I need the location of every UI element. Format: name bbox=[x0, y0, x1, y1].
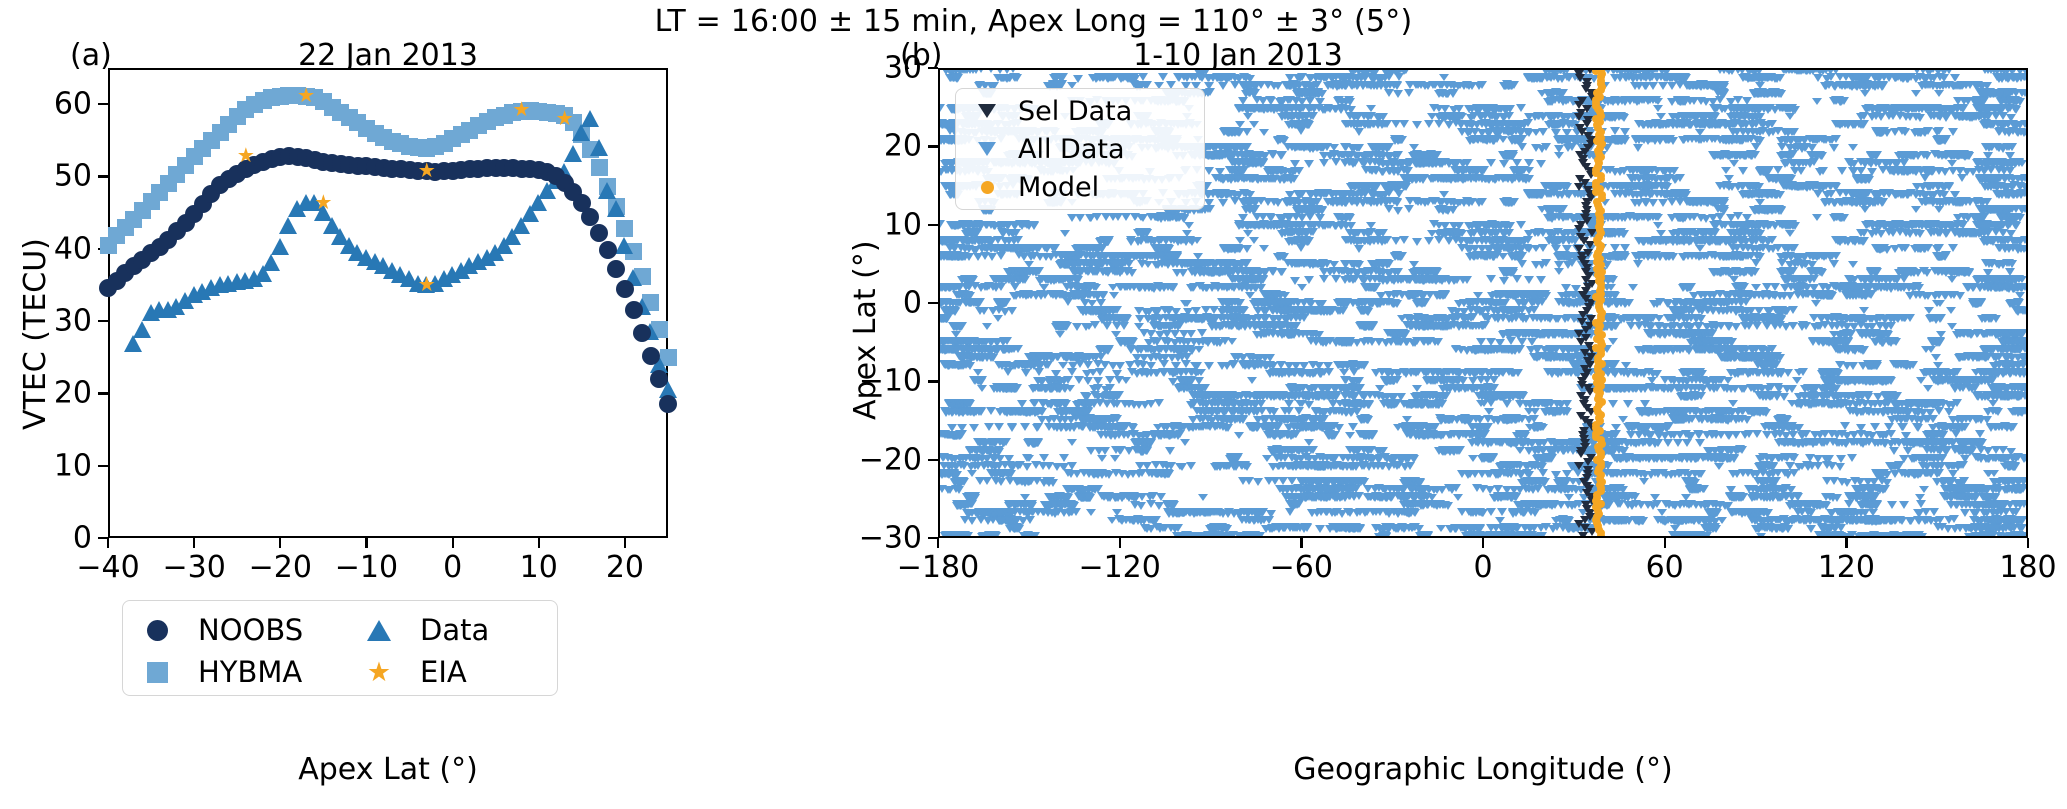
all-data-point bbox=[1131, 494, 1141, 502]
all-data-point bbox=[1086, 509, 1096, 516]
all-data-point bbox=[1039, 454, 1049, 462]
all-data-point bbox=[1947, 439, 1957, 446]
y-tick-label: −10 bbox=[859, 364, 922, 399]
all-data-point bbox=[1551, 517, 1561, 524]
all-data-point bbox=[1793, 493, 1803, 501]
all-data-point bbox=[1518, 440, 1528, 448]
all-data-point bbox=[1618, 486, 1628, 494]
all-data-point bbox=[1663, 517, 1673, 524]
all-data-point bbox=[1231, 454, 1241, 462]
all-data-point bbox=[1058, 463, 1068, 470]
all-data-point bbox=[1495, 517, 1505, 524]
all-data-point bbox=[1830, 525, 1840, 533]
all-data-point bbox=[1329, 431, 1339, 439]
all-data-point bbox=[1611, 430, 1621, 438]
all-data-point bbox=[1266, 510, 1276, 518]
all-data-point bbox=[2019, 477, 2026, 485]
all-data-point bbox=[1919, 486, 1929, 493]
y-tick bbox=[928, 302, 938, 304]
x-tick bbox=[365, 538, 367, 548]
all-data-point bbox=[1797, 463, 1807, 470]
all-data-point bbox=[2009, 463, 2019, 471]
all-data-point bbox=[1151, 516, 1161, 524]
data-point-triangle bbox=[607, 200, 625, 217]
all-data-point bbox=[1313, 463, 1323, 471]
data-point-star: ★ bbox=[295, 85, 317, 105]
all-data-point bbox=[1315, 525, 1325, 533]
all-data-point bbox=[1093, 485, 1103, 493]
all-data-point bbox=[1977, 439, 1987, 447]
all-data-point bbox=[1960, 455, 1970, 463]
all-data-point bbox=[1348, 462, 1358, 470]
all-data-point bbox=[1714, 463, 1724, 470]
all-data-point bbox=[1842, 439, 1852, 446]
all-data-point bbox=[1004, 455, 1014, 463]
all-data-point bbox=[1506, 462, 1516, 470]
all-data-point bbox=[1638, 517, 1648, 525]
x-tick-label: 120 bbox=[1818, 550, 1875, 585]
all-data-point bbox=[1959, 477, 1969, 485]
all-data-point bbox=[1650, 494, 1660, 501]
y-tick bbox=[98, 103, 108, 105]
all-data-point bbox=[1032, 424, 1042, 432]
all-data-point bbox=[1751, 525, 1761, 533]
all-data-point bbox=[1737, 446, 1747, 454]
all-data-point bbox=[1682, 439, 1692, 447]
y-tick-label: −30 bbox=[859, 521, 922, 556]
all-data-point bbox=[1696, 470, 1706, 478]
all-data-point bbox=[1348, 486, 1358, 493]
all-data-point bbox=[1971, 493, 1981, 501]
all-data-point bbox=[1717, 517, 1727, 524]
all-data-point bbox=[1955, 524, 1965, 532]
all-data-point bbox=[1100, 447, 1110, 455]
x-tick-label: 10 bbox=[520, 550, 558, 585]
all-data-point bbox=[1915, 494, 1925, 501]
all-data-point bbox=[1929, 508, 1939, 516]
all-data-point bbox=[1802, 439, 1812, 446]
all-data-point bbox=[1980, 509, 1990, 516]
all-data-point bbox=[1177, 509, 1187, 516]
all-data-point bbox=[1870, 423, 1880, 431]
all-data-point bbox=[1007, 424, 1017, 432]
all-data-point bbox=[1562, 516, 1572, 524]
y-tick bbox=[928, 224, 938, 226]
all-data-point bbox=[1242, 463, 1252, 471]
all-data-point bbox=[1931, 517, 1941, 524]
all-data-point bbox=[1067, 439, 1077, 446]
data-point-triangle bbox=[133, 321, 151, 338]
x-tick bbox=[1845, 538, 1847, 548]
data-point-star: ★ bbox=[511, 99, 533, 119]
y-tick bbox=[928, 459, 938, 461]
all-data-point bbox=[1900, 470, 1910, 478]
all-data-point bbox=[1524, 471, 1534, 479]
y-tick bbox=[98, 175, 108, 177]
x-tick bbox=[452, 538, 454, 548]
all-data-point bbox=[1320, 424, 1330, 431]
all-data-point bbox=[1359, 478, 1369, 486]
all-data-point bbox=[1186, 462, 1196, 470]
data-point-star: ★ bbox=[235, 145, 257, 165]
all-data-point bbox=[1530, 463, 1540, 470]
all-data-point bbox=[1308, 446, 1318, 454]
all-data-point bbox=[1451, 484, 1461, 492]
all-data-point bbox=[1856, 424, 1866, 432]
all-data-point bbox=[1253, 478, 1263, 485]
all-data-point bbox=[1723, 502, 1733, 510]
all-data-point bbox=[957, 424, 967, 432]
all-data-point bbox=[1698, 486, 1708, 493]
x-tick bbox=[107, 538, 109, 548]
x-tick-label: −60 bbox=[1270, 550, 1333, 585]
data-point-star: ★ bbox=[554, 108, 576, 128]
all-data-point bbox=[1527, 440, 1537, 448]
all-data-point bbox=[1681, 494, 1691, 501]
all-data-point bbox=[970, 494, 980, 502]
y-tick-label: −20 bbox=[859, 442, 922, 477]
all-data-point bbox=[1824, 455, 1834, 463]
all-data-point bbox=[1515, 447, 1525, 454]
all-data-point bbox=[989, 455, 999, 463]
all-data-point bbox=[1262, 455, 1272, 462]
all-data-point bbox=[1820, 501, 1830, 508]
all-data-point bbox=[1453, 494, 1463, 501]
all-data-point bbox=[1345, 432, 1355, 439]
all-data-point bbox=[1568, 478, 1578, 485]
data-point-circle bbox=[642, 347, 660, 365]
all-data-point bbox=[1385, 493, 1395, 501]
all-data-point bbox=[1738, 493, 1748, 501]
all-data-point bbox=[1752, 430, 1762, 438]
all-data-point bbox=[2008, 423, 2018, 431]
all-data-point bbox=[1913, 471, 1923, 479]
all-data-point bbox=[1475, 524, 1485, 532]
all-data-point bbox=[1486, 455, 1496, 463]
x-tick-label: −20 bbox=[249, 550, 312, 585]
all-data-point bbox=[1296, 477, 1306, 485]
all-data-point bbox=[1067, 462, 1077, 470]
all-data-point bbox=[1509, 523, 1519, 531]
all-data-point bbox=[1692, 455, 1702, 462]
all-data-point bbox=[1097, 455, 1107, 462]
all-data-point bbox=[1442, 447, 1452, 454]
y-tick-label: 20 bbox=[54, 376, 92, 411]
all-data-point bbox=[1393, 424, 1403, 431]
all-data-point bbox=[969, 424, 979, 432]
all-data-point bbox=[1497, 508, 1507, 516]
x-tick-label: 180 bbox=[1999, 550, 2056, 585]
all-data-point bbox=[952, 471, 962, 479]
all-data-point bbox=[1884, 423, 1894, 431]
all-data-point bbox=[1610, 469, 1620, 477]
all-data-point bbox=[1292, 455, 1302, 462]
x-tick-label: −120 bbox=[1078, 550, 1160, 585]
all-data-point bbox=[1175, 463, 1185, 470]
data-point-circle bbox=[625, 301, 643, 319]
data-point-triangle bbox=[271, 238, 289, 255]
all-data-point bbox=[1564, 494, 1574, 501]
legend-item-eia[interactable]: ★EIA bbox=[362, 652, 467, 692]
all-data-point bbox=[984, 423, 994, 431]
all-data-point bbox=[1917, 533, 1927, 536]
all-data-point bbox=[1695, 439, 1705, 447]
legend-item-data[interactable]: Data bbox=[362, 610, 489, 650]
panel-a-xlabel: Apex Lat (°) bbox=[108, 752, 668, 787]
all-data-point bbox=[1415, 478, 1425, 486]
all-data-point bbox=[1247, 423, 1257, 431]
all-data-point bbox=[1975, 430, 1985, 438]
all-data-point bbox=[1030, 532, 1040, 536]
all-data-point bbox=[1686, 478, 1696, 485]
all-data-point bbox=[1427, 494, 1437, 501]
all-data-point bbox=[1984, 502, 1994, 510]
all-data-point bbox=[1033, 439, 1043, 447]
all-data-point bbox=[1006, 509, 1016, 517]
all-data-point bbox=[1337, 463, 1347, 470]
all-data-point bbox=[1348, 423, 1358, 431]
all-data-point bbox=[1352, 455, 1362, 462]
all-data-point bbox=[1243, 510, 1253, 518]
all-data-point bbox=[1868, 509, 1878, 516]
all-data-point bbox=[1180, 439, 1190, 446]
panel-b-xlabel: Geographic Longitude (°) bbox=[938, 752, 2028, 787]
y-tick bbox=[98, 392, 108, 394]
legend-item-hybma[interactable]: HYBMA bbox=[140, 652, 302, 692]
all-data-point bbox=[1234, 432, 1244, 439]
all-data-point bbox=[1969, 516, 1979, 524]
panel-a-tag: (a) bbox=[70, 38, 112, 73]
x-tick-label: 60 bbox=[1646, 550, 1684, 585]
all-data-point bbox=[1611, 424, 1621, 431]
all-data-point bbox=[1932, 470, 1942, 478]
all-data-point bbox=[1284, 494, 1294, 501]
x-tick-label: 0 bbox=[443, 550, 462, 585]
x-tick bbox=[2027, 538, 2029, 548]
legend-label: Data bbox=[420, 613, 489, 647]
all-data-point bbox=[1841, 509, 1851, 516]
all-data-point bbox=[1781, 439, 1791, 446]
all-data-point bbox=[1436, 525, 1446, 532]
all-data-point bbox=[1778, 525, 1788, 533]
figure-canvas: LT = 16:00 ± 15 min, Apex Long = 110° ± … bbox=[0, 0, 2067, 809]
all-data-point bbox=[1785, 462, 1795, 470]
all-data-point bbox=[1414, 525, 1424, 533]
all-data-point bbox=[954, 486, 964, 494]
all-data-point bbox=[1355, 524, 1365, 532]
y-tick-label: 30 bbox=[884, 51, 922, 86]
all-data-point bbox=[1551, 471, 1561, 479]
all-data-point bbox=[1026, 477, 1036, 485]
x-tick bbox=[193, 538, 195, 548]
all-data-point bbox=[947, 424, 957, 432]
all-data-point bbox=[1001, 438, 1011, 446]
x-tick-label: 20 bbox=[606, 550, 644, 585]
all-data-point bbox=[1304, 439, 1314, 446]
all-data-point bbox=[1027, 500, 1037, 508]
x-tick bbox=[1664, 538, 1666, 548]
all-data-point bbox=[1222, 525, 1232, 533]
all-data-point bbox=[990, 531, 1000, 536]
all-data-point bbox=[1393, 510, 1403, 518]
all-data-point bbox=[1287, 477, 1297, 485]
y-tick-label: 60 bbox=[54, 87, 92, 122]
all-data-point bbox=[1302, 523, 1312, 531]
all-data-point bbox=[951, 533, 961, 536]
all-data-point bbox=[1363, 494, 1373, 501]
all-data-point bbox=[1832, 494, 1842, 502]
all-data-point bbox=[1901, 432, 1911, 440]
x-tick bbox=[624, 538, 626, 548]
all-data-point bbox=[1112, 509, 1122, 516]
y-tick-label: 20 bbox=[884, 129, 922, 164]
all-data-point bbox=[1787, 453, 1797, 461]
data-point-circle bbox=[633, 324, 651, 342]
y-tick-label: 50 bbox=[54, 159, 92, 194]
all-data-point bbox=[1307, 509, 1317, 517]
star-icon: ★ bbox=[367, 659, 391, 686]
all-data-point bbox=[1657, 509, 1667, 516]
all-data-point bbox=[1368, 430, 1378, 438]
all-data-point bbox=[1840, 422, 1850, 430]
all-data-point bbox=[1786, 486, 1796, 494]
all-data-point bbox=[1443, 502, 1453, 510]
y-tick bbox=[928, 537, 938, 539]
all-data-point bbox=[1882, 479, 1892, 487]
data-point-circle bbox=[599, 241, 617, 259]
all-data-point bbox=[1562, 470, 1572, 478]
all-data-point bbox=[1928, 424, 1938, 432]
all-data-point bbox=[1847, 454, 1857, 462]
all-data-point bbox=[1643, 423, 1653, 431]
all-data-point bbox=[1958, 439, 1968, 447]
all-data-point bbox=[1941, 448, 1951, 456]
all-data-point bbox=[1726, 486, 1736, 494]
all-data-point bbox=[1457, 508, 1467, 516]
all-data-point bbox=[1169, 501, 1179, 509]
all-data-point bbox=[1956, 494, 1966, 501]
all-data-point bbox=[2020, 454, 2026, 462]
all-data-point bbox=[1826, 509, 1836, 516]
all-data-point bbox=[2006, 448, 2016, 456]
all-data-point bbox=[1255, 532, 1265, 536]
all-data-point bbox=[1806, 525, 1816, 533]
all-data-point bbox=[1984, 517, 1994, 524]
all-data-point bbox=[1524, 486, 1534, 493]
data-point-triangle bbox=[598, 182, 616, 199]
all-data-point bbox=[994, 423, 1004, 431]
all-data-point bbox=[959, 478, 969, 486]
all-data-point bbox=[1982, 486, 1992, 494]
all-data-point bbox=[1630, 493, 1640, 501]
all-data-point bbox=[1753, 486, 1763, 494]
all-data-point bbox=[1890, 470, 1900, 478]
all-data-point bbox=[1173, 524, 1183, 532]
all-data-point bbox=[1165, 447, 1175, 455]
data-point-square bbox=[616, 220, 633, 237]
all-data-point bbox=[1321, 509, 1331, 516]
all-data-point bbox=[1762, 494, 1772, 501]
x-tick-label: 0 bbox=[1473, 550, 1492, 585]
all-data-point bbox=[1913, 509, 1923, 516]
all-data-point bbox=[1048, 479, 1058, 487]
all-data-point bbox=[1872, 533, 1882, 536]
x-tick bbox=[937, 538, 939, 548]
all-data-point bbox=[2000, 463, 2010, 470]
y-tick-label: 0 bbox=[903, 286, 922, 321]
all-data-point bbox=[1887, 501, 1897, 509]
all-data-point bbox=[1860, 517, 1870, 525]
legend-label: EIA bbox=[420, 655, 467, 689]
y-tick bbox=[928, 380, 938, 382]
all-data-point bbox=[1538, 424, 1548, 431]
y-tick bbox=[928, 67, 938, 69]
y-tick bbox=[928, 145, 938, 147]
all-data-point bbox=[996, 478, 1006, 486]
all-data-point bbox=[1520, 432, 1530, 440]
all-data-point bbox=[1949, 515, 1959, 523]
all-data-point bbox=[1903, 447, 1913, 455]
y-tick bbox=[98, 320, 108, 322]
all-data-point bbox=[1543, 455, 1553, 462]
legend-label: NOOBS bbox=[198, 613, 303, 647]
data-point-star: ★ bbox=[312, 192, 334, 212]
all-data-point bbox=[1020, 494, 1030, 501]
all-data-point bbox=[1431, 431, 1441, 439]
all-data-point bbox=[1948, 470, 1958, 478]
y-tick-label: 40 bbox=[54, 231, 92, 266]
all-data-point bbox=[1525, 424, 1535, 431]
all-data-point bbox=[1836, 455, 1846, 463]
all-data-point bbox=[1867, 494, 1877, 501]
y-tick bbox=[98, 537, 108, 539]
all-data-point bbox=[2019, 500, 2026, 508]
all-data-point bbox=[2006, 525, 2016, 533]
data-point-triangle bbox=[581, 110, 599, 127]
legend-label: HYBMA bbox=[198, 655, 302, 689]
x-tick bbox=[538, 538, 540, 548]
all-data-point bbox=[1107, 517, 1117, 524]
all-data-point bbox=[2010, 516, 2020, 524]
data-point-triangle bbox=[590, 139, 608, 156]
all-data-point bbox=[1765, 462, 1775, 470]
all-data-point bbox=[1620, 470, 1630, 478]
all-data-point bbox=[1763, 517, 1773, 524]
all-data-point bbox=[1639, 478, 1649, 485]
all-data-point bbox=[1024, 455, 1034, 462]
legend-item-noobs[interactable]: NOOBS bbox=[140, 610, 303, 650]
all-data-point bbox=[1156, 493, 1166, 501]
all-data-point bbox=[1223, 424, 1233, 432]
all-data-point bbox=[1324, 477, 1334, 485]
all-data-point bbox=[1729, 455, 1739, 463]
all-data-point bbox=[1119, 424, 1129, 431]
all-data-point bbox=[1174, 424, 1184, 431]
all-data-point bbox=[1128, 424, 1138, 432]
all-data-point bbox=[1410, 509, 1420, 517]
all-data-point bbox=[967, 470, 977, 477]
all-data-point bbox=[1097, 471, 1107, 479]
all-data-point bbox=[1539, 479, 1549, 487]
all-data-point bbox=[1899, 501, 1909, 509]
all-data-point bbox=[2018, 533, 2026, 536]
all-data-point bbox=[1273, 463, 1283, 470]
all-data-point bbox=[1164, 470, 1174, 478]
all-data-point bbox=[1681, 517, 1691, 524]
all-data-point bbox=[1409, 455, 1419, 463]
x-tick bbox=[1482, 538, 1484, 548]
all-data-point bbox=[1619, 447, 1629, 455]
